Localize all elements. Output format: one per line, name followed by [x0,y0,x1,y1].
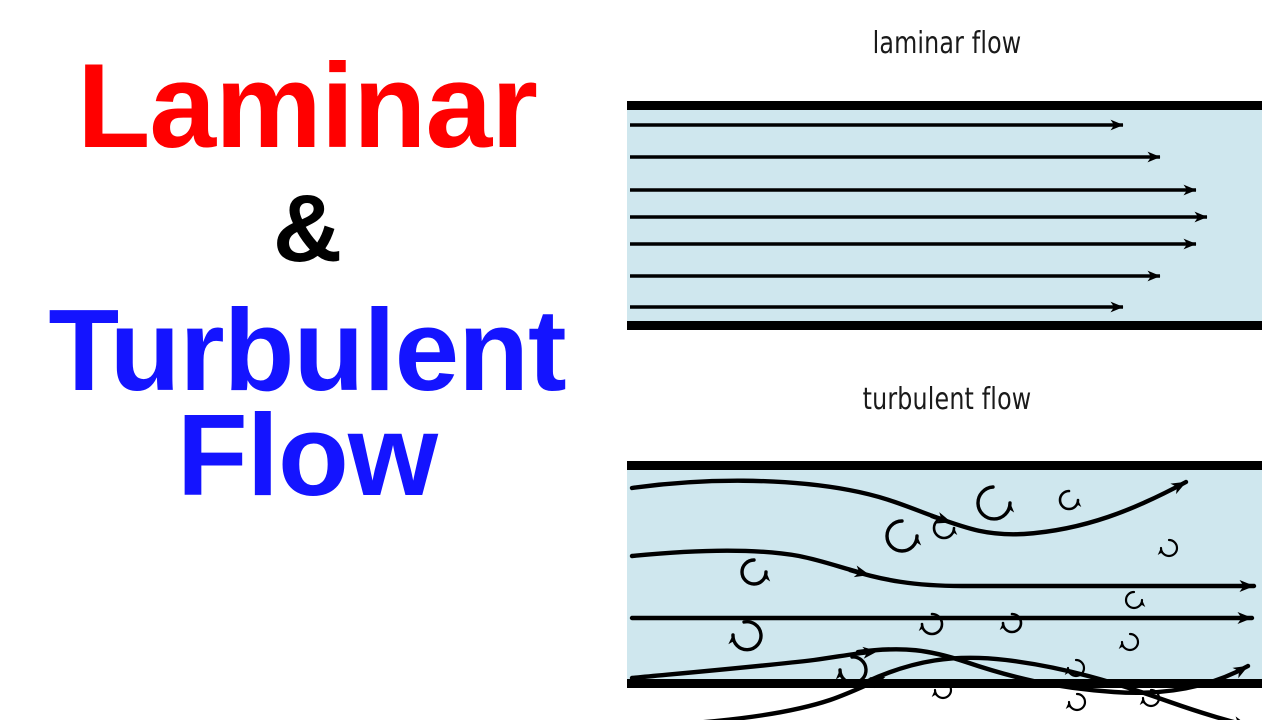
laminar-flow-label: laminar flow [654,26,1240,61]
turbulent-bottom-wall [627,679,1262,688]
laminar-bottom-wall [627,321,1262,330]
turbulent-flow-label: turbulent flow [654,382,1240,417]
laminar-top-wall [627,101,1262,110]
screenshot-canvas: Laminar & Turbulent Flow laminar flow [0,0,1280,720]
eddy-small-5 [1069,694,1085,710]
title-ampersand: & [273,182,341,276]
turbulent-top-wall [627,461,1262,470]
title-flow: Flow [177,399,437,513]
title-laminar: Laminar [77,48,537,166]
turbulent-fluid-region [627,466,1262,684]
laminar-flow-panel: laminar flow [614,0,1280,360]
turbulent-flow-panel: turbulent flow [614,360,1280,720]
title-block: Laminar & Turbulent Flow [0,44,614,674]
